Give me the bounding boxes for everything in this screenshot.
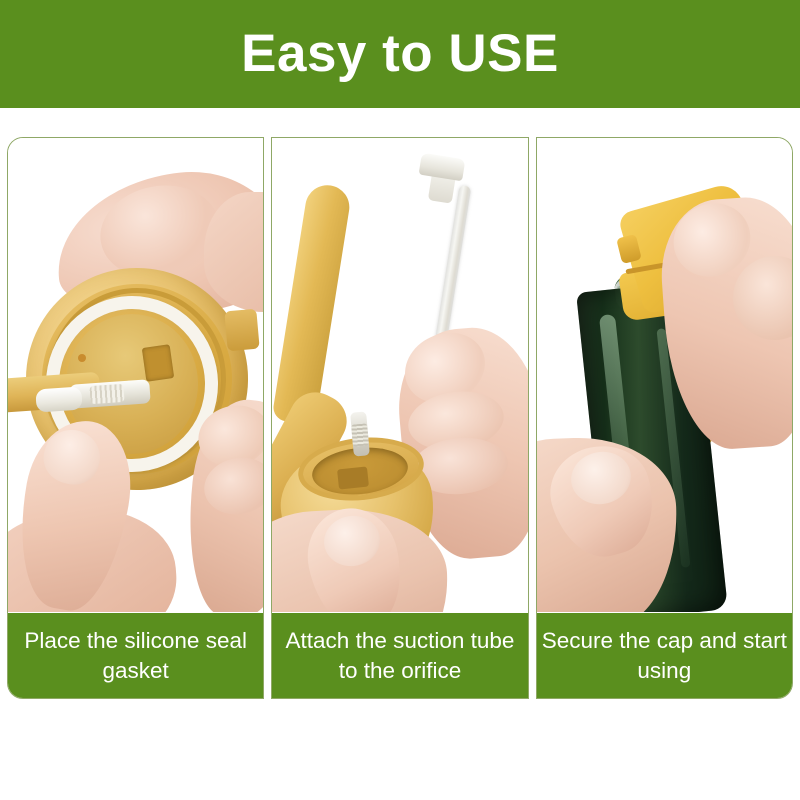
orifice-rib-shape — [351, 423, 369, 446]
page-title: Easy to USE — [241, 27, 559, 80]
nozzle-tip-shape — [35, 386, 82, 412]
steps-row: Place the silicone seal gasket Attach th… — [7, 137, 793, 699]
step-photo-3 — [537, 138, 792, 612]
cap-slot-shape — [337, 466, 369, 489]
step-caption-1: Place the silicone seal gasket — [7, 613, 264, 699]
step-panel-3: Secure the cap and start using — [536, 137, 793, 699]
header-banner: Easy to USE — [0, 0, 800, 108]
step-caption-2: Attach the suction tube to the orifice — [271, 613, 528, 699]
suction-tube-head-shape — [419, 153, 466, 182]
pump-handle-shape — [272, 182, 353, 426]
step-photo-2 — [272, 138, 527, 612]
nozzle-rib-shape — [89, 384, 124, 404]
step-caption-3: Secure the cap and start using — [536, 613, 793, 699]
step-photo-1 — [8, 138, 263, 612]
cap-tab-shape — [224, 309, 259, 352]
step-panel-2: Attach the suction tube to the orifice — [271, 137, 528, 699]
step-panel-1: Place the silicone seal gasket — [7, 137, 264, 699]
